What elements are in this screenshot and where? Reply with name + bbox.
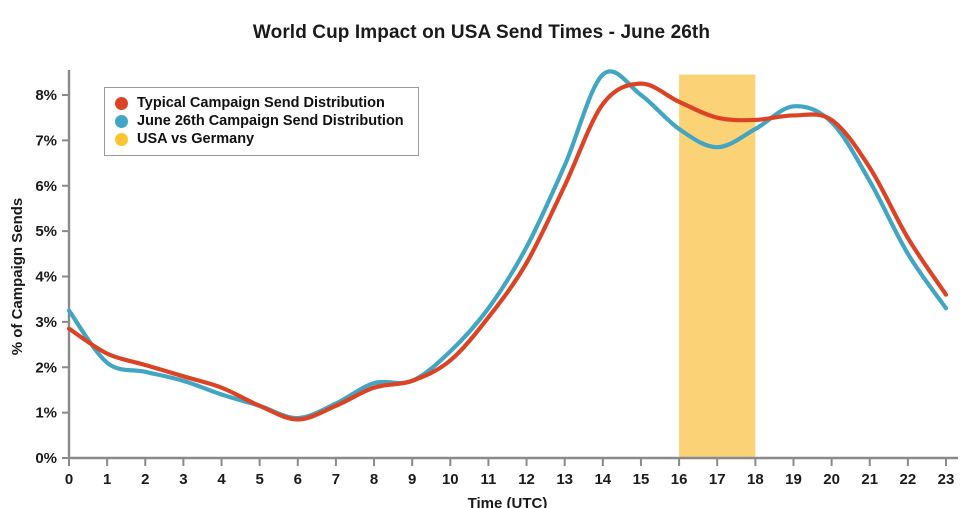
legend-item-label: June 26th Campaign Send Distribution (137, 112, 404, 130)
highlight-band-usa-vs-germany (679, 75, 755, 458)
y-axis-tick-label: 2% (35, 359, 57, 376)
chart-legend: Typical Campaign Send DistributionJune 2… (104, 87, 419, 156)
x-axis-tick-label: 17 (709, 471, 726, 488)
line-chart-plot: 0%1%2%3%4%5%6%7%8%0123456789101112131415… (0, 0, 963, 508)
y-axis-tick-label: 5% (35, 223, 57, 240)
y-axis-tick-label: 1% (35, 405, 57, 422)
legend-item[interactable]: USA vs Germany (115, 130, 404, 148)
x-axis-tick-label: 5 (255, 471, 263, 488)
x-axis-tick-label: 11 (481, 471, 497, 488)
chart-container: World Cup Impact on USA Send Times - Jun… (0, 0, 963, 508)
y-axis-tick-label: 7% (35, 132, 57, 149)
x-axis-tick-label: 13 (556, 471, 573, 488)
x-axis-tick-label: 14 (594, 471, 611, 488)
x-axis-tick-label: 1 (103, 471, 111, 488)
x-axis-tick-label: 3 (179, 471, 187, 488)
x-axis-tick-label: 21 (861, 471, 878, 488)
x-axis-tick-label: 23 (938, 471, 955, 488)
y-axis-tick-label: 4% (35, 269, 57, 286)
y-axis-tick-label: 3% (35, 314, 57, 331)
x-axis-tick-label: 10 (442, 471, 459, 488)
x-axis-tick-label: 0 (65, 471, 73, 488)
x-axis-tick-label: 22 (900, 471, 917, 488)
x-axis-tick-label: 15 (633, 471, 650, 488)
x-axis-tick-label: 8 (370, 471, 378, 488)
x-axis-tick-label: 16 (671, 471, 688, 488)
x-axis-tick-label: 7 (332, 471, 340, 488)
y-axis-title: % of Campaign Sends (9, 198, 26, 356)
x-axis-tick-label: 6 (294, 471, 302, 488)
legend-item[interactable]: June 26th Campaign Send Distribution (115, 112, 404, 130)
legend-item-label: Typical Campaign Send Distribution (137, 94, 385, 112)
x-axis-tick-label: 18 (747, 471, 764, 488)
y-axis-tick-label: 0% (35, 450, 57, 467)
x-axis-tick-label: 9 (408, 471, 416, 488)
x-axis-title: Time (UTC) (468, 495, 548, 508)
legend-swatch-dot-icon (115, 133, 128, 146)
legend-swatch-dot-icon (115, 115, 128, 128)
y-axis-tick-label: 6% (35, 178, 57, 195)
x-axis-tick-label: 19 (785, 471, 802, 488)
x-axis-tick-label: 2 (141, 471, 149, 488)
legend-item[interactable]: Typical Campaign Send Distribution (115, 94, 404, 112)
x-axis-tick-label: 20 (823, 471, 840, 488)
y-axis-tick-label: 8% (35, 87, 57, 104)
x-axis-tick-label: 4 (217, 471, 226, 488)
legend-swatch-dot-icon (115, 97, 128, 110)
legend-item-label: USA vs Germany (137, 130, 254, 148)
x-axis-tick-label: 12 (518, 471, 535, 488)
